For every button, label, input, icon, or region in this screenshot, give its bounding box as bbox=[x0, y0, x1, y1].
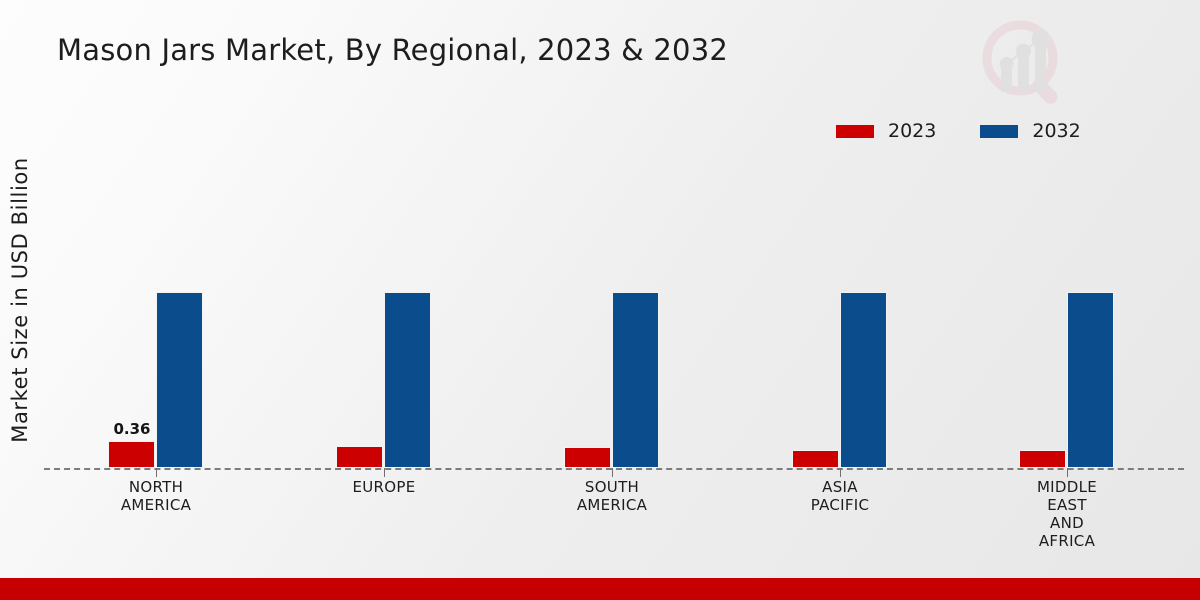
bar-south-america-2032[interactable] bbox=[612, 292, 659, 468]
x-tick-europe bbox=[384, 468, 385, 477]
x-axis-label-line: NORTH bbox=[81, 478, 231, 496]
bar-north-america-2023[interactable] bbox=[108, 441, 155, 468]
x-axis-label-line: AMERICA bbox=[81, 496, 231, 514]
x-tick-asia-pacific bbox=[840, 468, 841, 477]
bar-asia-pacific-2023[interactable] bbox=[792, 450, 839, 468]
legend-label-2032: 2032 bbox=[1032, 122, 1080, 141]
x-axis-label-line: ASIA bbox=[765, 478, 915, 496]
chart-container: Mason Jars Market, By Regional, 2023 & 2… bbox=[0, 0, 1200, 600]
bar-group-asia-pacific bbox=[792, 150, 888, 468]
bar-europe-2032[interactable] bbox=[384, 292, 431, 468]
footer-accent-bar bbox=[0, 578, 1200, 600]
x-axis-label-line: EAST bbox=[992, 496, 1142, 514]
x-axis-label-line: AMERICA bbox=[537, 496, 687, 514]
legend-swatch-2032 bbox=[980, 125, 1018, 138]
x-axis-label-middle-east-and-africa: MIDDLE EAST AND AFRICA bbox=[992, 478, 1142, 550]
legend-swatch-2023 bbox=[836, 125, 874, 138]
x-axis-label-asia-pacific: ASIA PACIFIC bbox=[765, 478, 915, 514]
bar-south-america-2023[interactable] bbox=[564, 447, 611, 468]
x-axis-label-line: SOUTH bbox=[537, 478, 687, 496]
bar-asia-pacific-2032[interactable] bbox=[840, 292, 887, 468]
plot-area: 0.36 bbox=[44, 150, 1184, 470]
x-tick-south-america bbox=[612, 468, 613, 477]
y-axis-title: Market Size in USD Billion bbox=[0, 0, 40, 600]
x-tick-north-america bbox=[156, 468, 157, 477]
bar-value-label-north-america-2023: 0.36 bbox=[104, 420, 160, 438]
legend-item-2023[interactable]: 2023 bbox=[836, 122, 936, 141]
y-axis-title-text: Market Size in USD Billion bbox=[8, 157, 32, 443]
bar-group-south-america bbox=[564, 150, 660, 468]
x-axis-label-line: AND bbox=[992, 514, 1142, 532]
legend-item-2032[interactable]: 2032 bbox=[980, 122, 1080, 141]
watermark-logo-icon bbox=[968, 14, 1072, 110]
x-axis-label-line: AFRICA bbox=[992, 532, 1142, 550]
bar-europe-2023[interactable] bbox=[336, 446, 383, 468]
x-axis-label-line: EUROPE bbox=[309, 478, 459, 496]
chart-title: Mason Jars Market, By Regional, 2023 & 2… bbox=[57, 33, 728, 67]
x-axis-label-line: PACIFIC bbox=[765, 496, 915, 514]
bar-middle-east-and-africa-2023[interactable] bbox=[1019, 450, 1066, 468]
bar-middle-east-and-africa-2032[interactable] bbox=[1067, 292, 1114, 468]
axis-baseline bbox=[44, 468, 1184, 470]
bar-north-america-2032[interactable] bbox=[156, 292, 203, 468]
bar-group-europe bbox=[336, 150, 432, 468]
legend-label-2023: 2023 bbox=[888, 122, 936, 141]
bar-group-north-america: 0.36 bbox=[108, 150, 204, 468]
chart-legend: 2023 2032 bbox=[836, 122, 1081, 141]
x-tick-middle-east-and-africa bbox=[1067, 468, 1068, 477]
bar-group-middle-east-and-africa bbox=[1019, 150, 1115, 468]
x-axis-label-south-america: SOUTH AMERICA bbox=[537, 478, 687, 514]
x-axis-label-north-america: NORTH AMERICA bbox=[81, 478, 231, 514]
x-axis-label-europe: EUROPE bbox=[309, 478, 459, 496]
x-axis-label-line: MIDDLE bbox=[992, 478, 1142, 496]
